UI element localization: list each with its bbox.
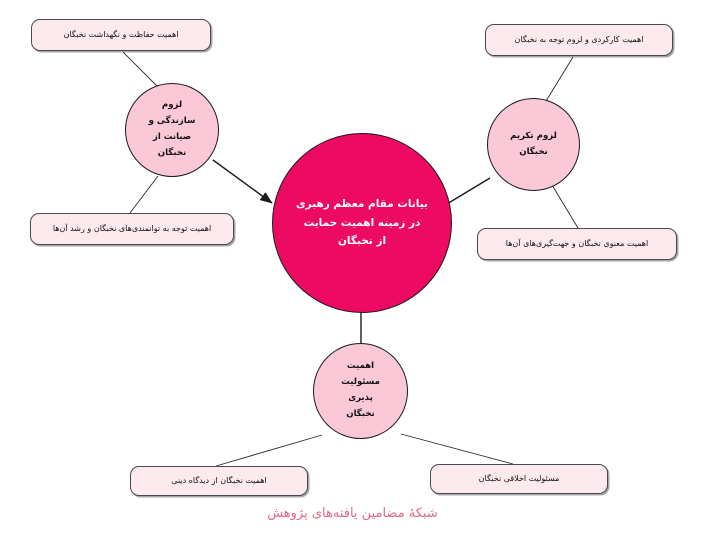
core-node[interactable]: بیانات مقام معظم رهبری در زمینه اهمیت حم… xyxy=(272,133,452,313)
theme-node-honoring-elites[interactable]: لزوم تکریم نخبگان xyxy=(487,98,580,191)
leaf-box-functional-importance-label: اهمیت کارکردی و لزوم توجه به نخبگان xyxy=(508,34,651,45)
leaf-box-protection-retention-label: اهمیت حفاظت و نگهداشت نخبگان xyxy=(57,29,186,40)
leaf-box-spiritual-orientation[interactable]: اهمیت معنوی نخبگان و جهت‌گیری‌های آن‌ها xyxy=(477,228,677,260)
theme-node-responsibility[interactable]: اهمیت مسئولیت پذیری نخبگان xyxy=(313,343,408,439)
leaf-box-capabilities-growth-label: اهمیت توجه به توانمندی‌های نخبگان و رشد … xyxy=(46,223,218,234)
core-node-label: بیانات مقام معظم رهبری در زمینه اهمیت حم… xyxy=(280,195,444,250)
leaf-box-capabilities-growth[interactable]: اهمیت توجه به توانمندی‌های نخبگان و رشد … xyxy=(30,213,234,245)
thematic-network-diagram: بیانات مقام معظم رهبری در زمینه اهمیت حم… xyxy=(0,0,705,537)
theme-node-construction-protection[interactable]: لزوم سازندگی و صیانت از نخبگان xyxy=(125,83,219,177)
leaf-box-spiritual-orientation-label: اهمیت معنوی نخبگان و جهت‌گیری‌های آن‌ها xyxy=(499,238,655,249)
theme-node-honoring-elites-label: لزوم تکریم نخبگان xyxy=(504,129,563,161)
leaf-box-religious-view-label: اهمیت نخبگان از دیدگاه دینی xyxy=(164,475,273,486)
theme-node-construction-protection-label: لزوم سازندگی و صیانت از نخبگان xyxy=(143,98,202,162)
leaf-box-protection-retention[interactable]: اهمیت حفاظت و نگهداشت نخبگان xyxy=(31,19,211,51)
leaf-box-moral-responsibility-label: مسئولیت اخلاقی نخبگان xyxy=(472,473,567,484)
leaf-box-functional-importance[interactable]: اهمیت کارکردی و لزوم توجه به نخبگان xyxy=(485,24,673,56)
leaf-box-moral-responsibility[interactable]: مسئولیت اخلاقی نخبگان xyxy=(430,464,608,494)
leaf-box-religious-view[interactable]: اهمیت نخبگان از دیدگاه دینی xyxy=(130,466,308,496)
theme-node-responsibility-label: اهمیت مسئولیت پذیری نخبگان xyxy=(335,359,386,423)
